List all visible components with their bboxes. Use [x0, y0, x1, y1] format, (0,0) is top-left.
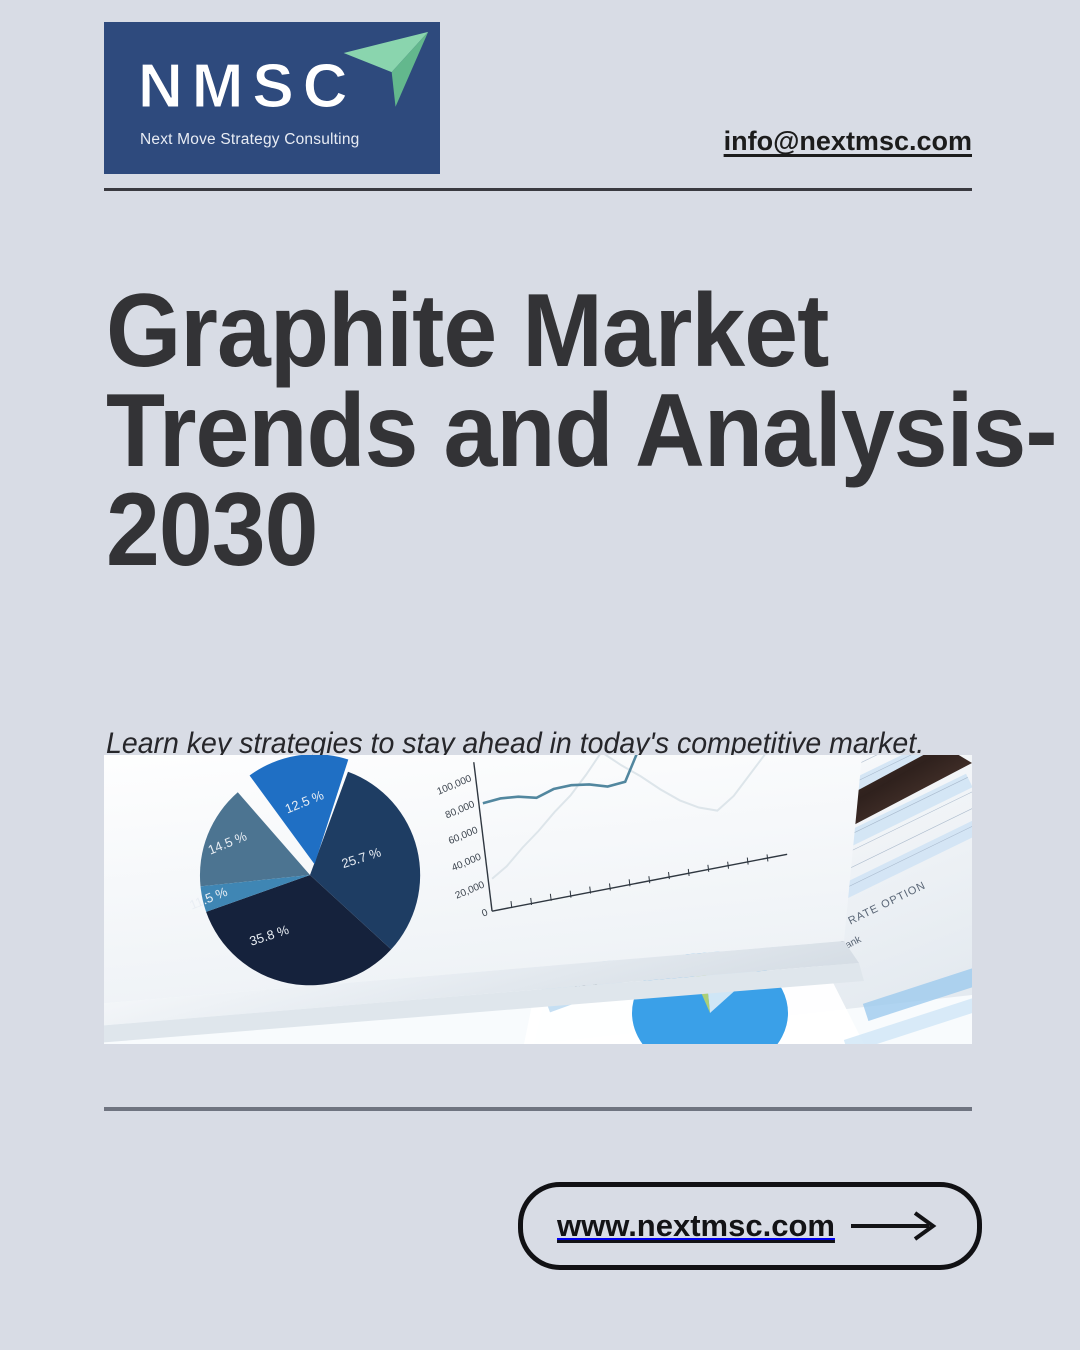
poster-canvas: NMSC Next Move Strategy Consulting info@… — [0, 0, 1080, 1350]
website-button[interactable]: www.nextmsc.com — [518, 1182, 982, 1270]
website-url-label: www.nextmsc.com — [557, 1208, 835, 1244]
divider-bottom — [104, 1107, 972, 1111]
divider-top — [104, 188, 972, 191]
hero-photo: 2,649 44,170 26,229 50,938 4,288 (91.5) … — [104, 755, 972, 1044]
logo-tagline: Next Move Strategy Consulting — [140, 132, 420, 148]
page-title: Graphite Market Trends and Analysis- 203… — [106, 282, 943, 581]
hero-photo-illustration: 2,649 44,170 26,229 50,938 4,288 (91.5) … — [104, 755, 972, 1044]
page-title-line-2: Trends and Analysis- — [106, 382, 943, 482]
logo-letters: NMSC — [138, 56, 388, 118]
long-right-arrow-icon — [849, 1211, 941, 1241]
header: NMSC Next Move Strategy Consulting info@… — [104, 22, 972, 172]
page-title-line-3: 2030 — [106, 481, 943, 581]
email-link[interactable]: info@nextmsc.com — [724, 126, 972, 157]
nmsc-logo: NMSC Next Move Strategy Consulting — [104, 22, 440, 174]
page-title-line-1: Graphite Market — [106, 282, 943, 382]
